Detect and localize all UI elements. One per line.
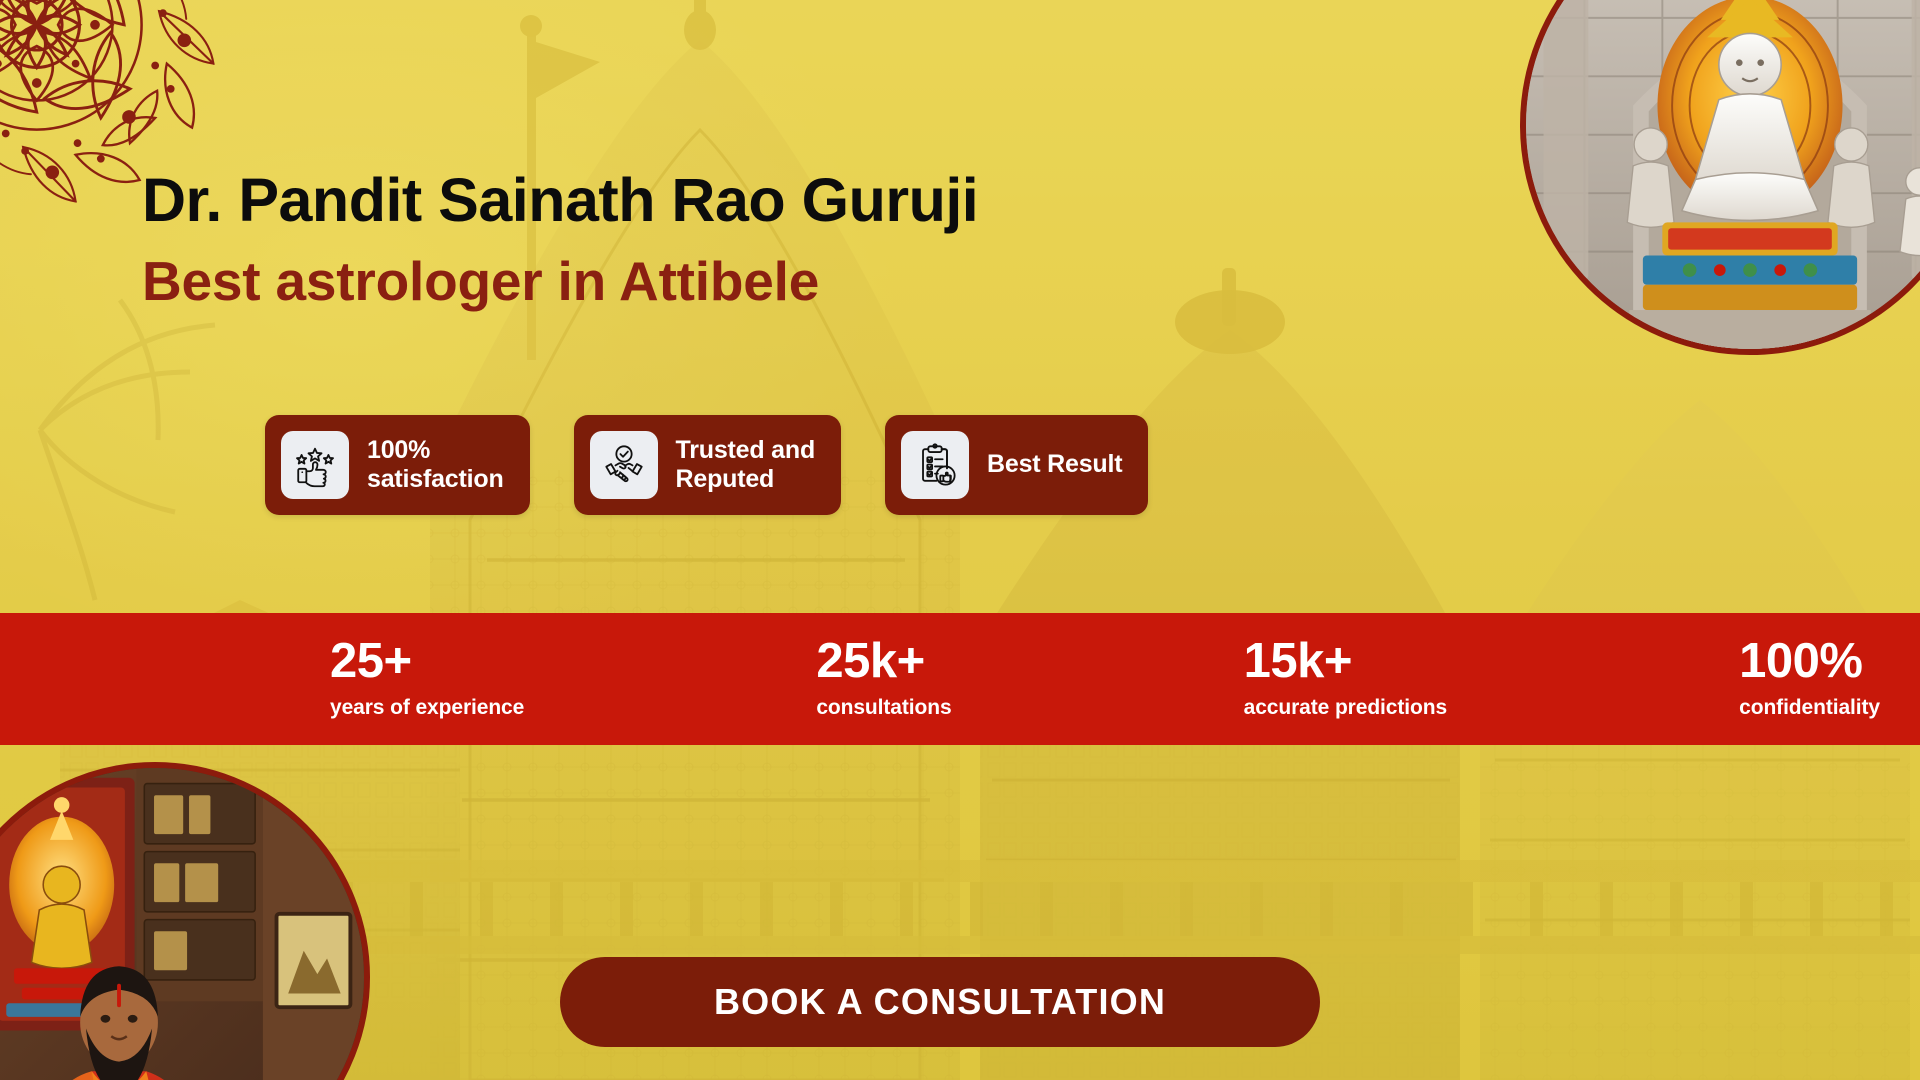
feature-badge-trusted[interactable]: Trusted and Reputed (574, 415, 842, 515)
stat-label: consultations (816, 695, 951, 720)
page-title: Dr. Pandit Sainath Rao Guruji (142, 168, 978, 234)
stat-accurate-predictions: 15k+ accurate predictions (1244, 637, 1447, 720)
stat-label: accurate predictions (1244, 695, 1447, 720)
book-consultation-button[interactable]: BOOK A CONSULTATION (560, 957, 1320, 1047)
feature-badge-label: Best Result (987, 450, 1122, 480)
stat-value: 25+ (330, 637, 524, 686)
feature-badge-label: 100% satisfaction (367, 436, 504, 495)
feature-badge-list: 100% satisfaction Trusted and (265, 415, 1148, 515)
headline-block: Dr. Pandit Sainath Rao Guruji Best astro… (142, 168, 978, 313)
feature-badge-label: Trusted and Reputed (676, 436, 816, 495)
stat-value: 25k+ (816, 637, 951, 686)
thumbs-up-stars-icon (281, 431, 349, 499)
stat-years-of-experience: 25+ years of experience (330, 637, 524, 720)
statistics-bar: 25+ years of experience 25k+ consultatio… (0, 613, 1920, 745)
stat-consultations: 25k+ consultations (816, 637, 951, 720)
feature-badge-best-result[interactable]: Best Result (885, 415, 1148, 515)
handshake-verified-icon (590, 431, 658, 499)
stat-label: years of experience (330, 695, 524, 720)
stat-value: 100% (1739, 637, 1880, 686)
stat-value: 15k+ (1244, 637, 1447, 686)
feature-badge-satisfaction[interactable]: 100% satisfaction (265, 415, 530, 515)
promotional-banner: Dr. Pandit Sainath Rao Guruji Best astro… (0, 0, 1920, 1080)
clipboard-thumbs-up-icon (901, 431, 969, 499)
page-subtitle: Best astrologer in Attibele (142, 250, 978, 313)
stat-confidentiality: 100% confidentiality (1739, 637, 1880, 720)
stat-label: confidentiality (1739, 695, 1880, 720)
